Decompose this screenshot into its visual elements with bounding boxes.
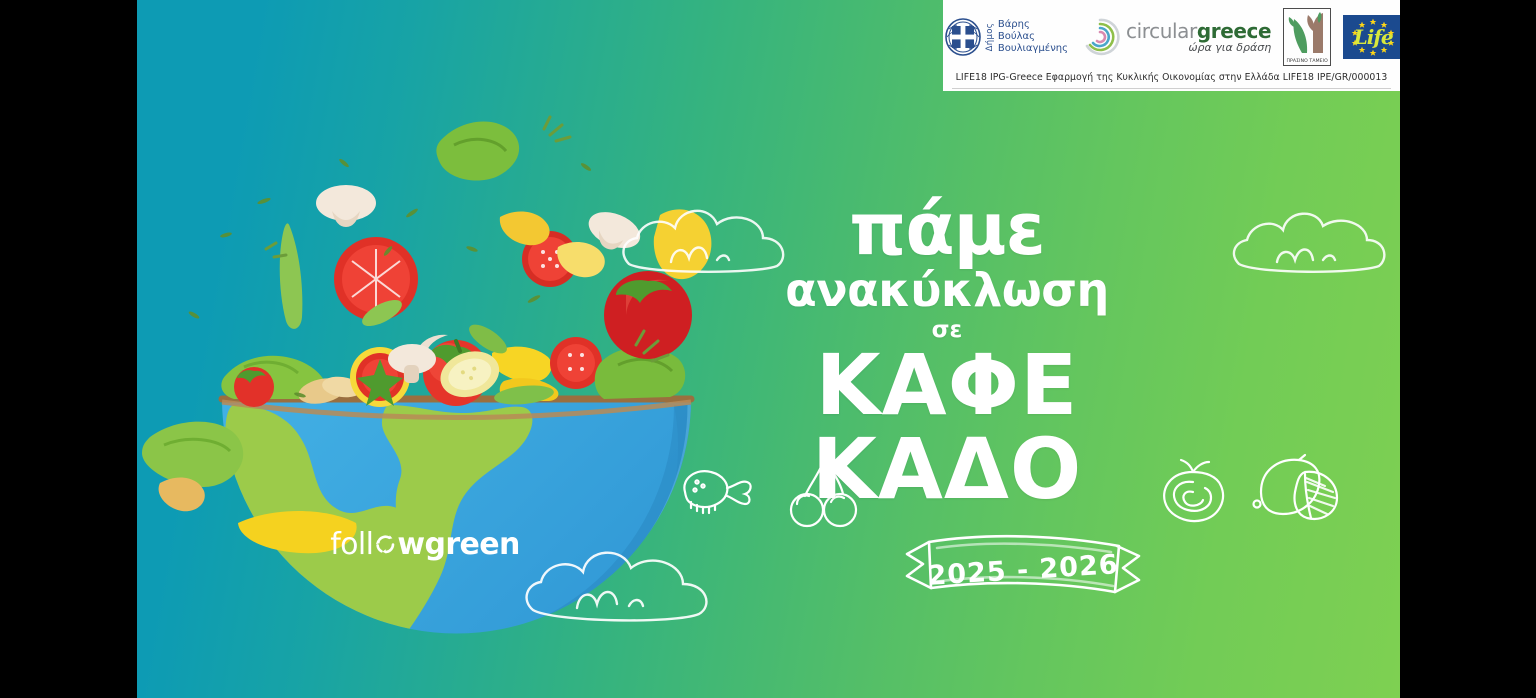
circular-word: circular [1126,19,1197,43]
tree-sapling-icon [1286,9,1328,53]
municipality-logo: Δήμος Βάρης Βούλας Βουλιαγμένης [944,17,1068,57]
green-fund-logo: ΠΡΑΣΙΝΟ ΤΑΜΕΙΟ [1283,8,1331,66]
logo-strip-caption: LIFE18 IPG-Greece Εφαρμογή της Κυκλικής … [956,73,1388,82]
headline-line-pame: πάμε [737,196,1157,262]
cloud-bottom-left-icon [519,538,719,628]
life-wordmark: Life [1343,15,1400,59]
life-logo: Life [1343,15,1400,59]
municipality-names: Βάρης Βούλας Βουλιαγμένης [998,19,1068,54]
followgreen-logo: foll wgreen [340,524,510,564]
recycle-o-icon [374,533,396,555]
circular-greece-text: circulargreece ώρα για δράση [1126,21,1271,54]
circular-greece-wordmark: circulargreece [1126,21,1271,41]
poster-stage: foll wgreen [0,0,1536,698]
municipality-line-3: Βουλιαγμένης [998,43,1068,55]
greece-word: greece [1197,19,1271,43]
year-ribbon: 2025 - 2026 [893,530,1153,610]
green-fund-caption: ΠΡΑΣΙΝΟ ΤΑΜΕΙΟ [1287,59,1328,64]
greek-coat-of-arms-icon [944,17,982,57]
headline-block: πάμε ανακύκλωση σε ΚΑΦΕ ΚΑΔΟ [737,196,1157,510]
apple-peel-icon [1157,458,1229,530]
cloud-top-right-icon [1229,200,1389,278]
sponsor-logo-strip: Δήμος Βάρης Βούλας Βουλιαγμένης [943,0,1400,91]
ribbon-year-text: 2025 - 2026 [891,522,1155,618]
lemon-slice-icon [1245,452,1341,528]
municipality-line-1: Βάρης [998,19,1068,31]
circular-greece-tagline: ώρα για δράση [1126,42,1271,53]
circular-spiral-icon [1080,17,1120,57]
municipality-line-2: Βούλας [998,31,1068,43]
followgreen-part2: wgreen [397,527,519,562]
logo-strip-divider [952,88,1391,89]
followgreen-part1: foll [330,527,373,562]
headline-line-kado: ΚΑΔΟ [737,428,1157,510]
poster-canvas: foll wgreen [137,0,1400,698]
municipality-word: Δήμος [985,23,995,51]
circular-greece-logo: circulargreece ώρα για δράση [1080,17,1271,57]
headline-line-kafe: ΚΑΦΕ [737,344,1157,426]
headline-line-anakyklosi: ανακύκλωση [737,266,1157,314]
